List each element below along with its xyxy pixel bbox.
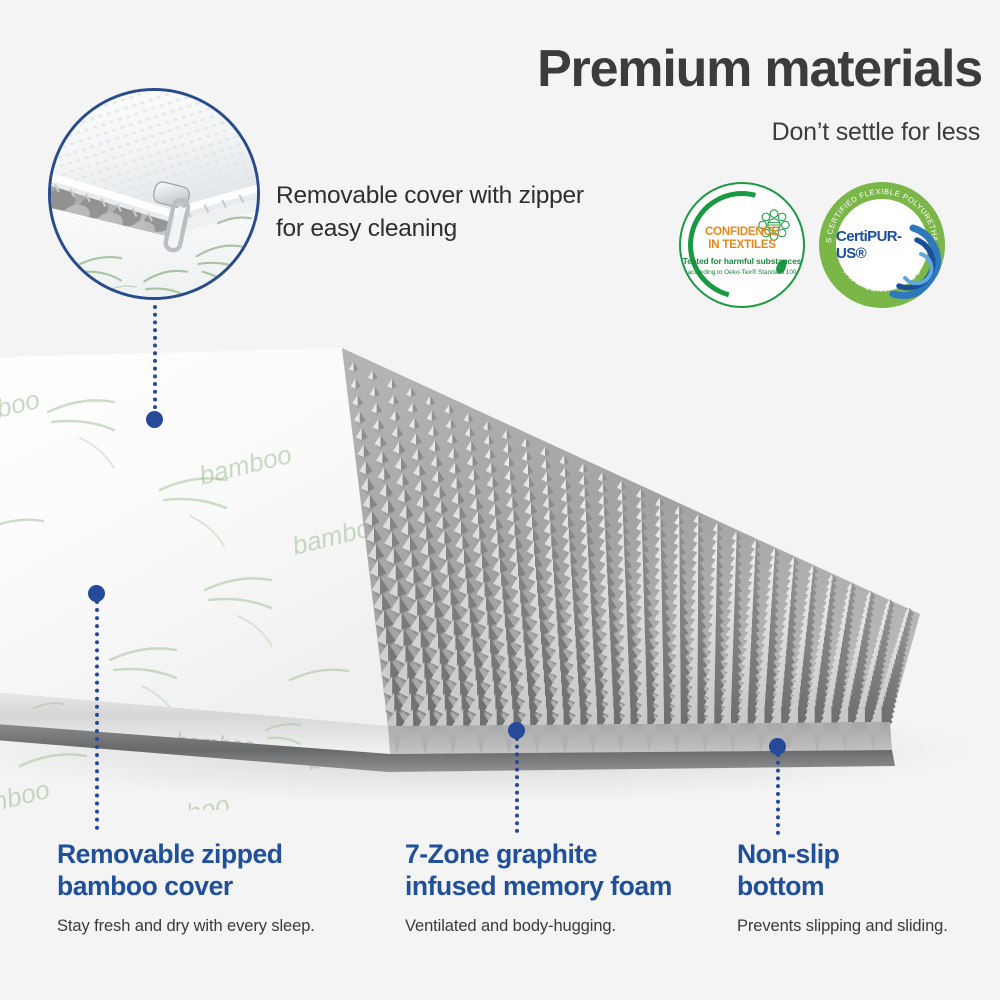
callout-line-1: Removable cover with zipper xyxy=(276,180,606,213)
page-subtitle: Don’t settle for less xyxy=(772,118,980,147)
mattress-topper-illustration: bamboo bamboo bamboo bamboo bamboo bambo… xyxy=(0,330,1000,810)
connector-line-cover-top xyxy=(153,305,157,417)
connector-line-memory-foam xyxy=(515,737,519,833)
zipper-photo xyxy=(51,91,257,297)
feature-caption: Ventilated and body-hugging. xyxy=(405,917,735,936)
certipur-label: CertiPUR-US® xyxy=(836,228,928,262)
marker-dot-non-slip xyxy=(769,738,786,755)
feature-caption: Stay fresh and dry with every sleep. xyxy=(57,917,387,936)
feature-caption: Prevents slipping and sliding. xyxy=(737,917,997,936)
svg-text:bamboo: bamboo xyxy=(0,774,53,810)
marker-dot-bamboo-cover xyxy=(88,585,105,602)
oeko-title: CONFIDENCE IN TEXTILES xyxy=(705,226,779,252)
page-title: Premium materials xyxy=(537,42,982,97)
feature-title: Non-slip bottom xyxy=(737,838,997,902)
feature-non-slip-bottom: Non-slip bottom Prevents slipping and sl… xyxy=(737,838,997,936)
feature-7-zone-graphite-infused-memory-foam: 7-Zone graphite infused memory foam Vent… xyxy=(405,838,735,936)
feature-list: Removable zipped bamboo cover Stay fresh… xyxy=(0,838,1000,978)
callout-removable-cover: Removable cover with zipper for easy cle… xyxy=(276,180,606,245)
feature-title: Removable zipped bamboo cover xyxy=(57,838,387,902)
feature-title: 7-Zone graphite infused memory foam xyxy=(405,838,735,902)
callout-line-2: for easy cleaning xyxy=(276,213,606,246)
marker-dot-cover-top xyxy=(146,411,163,428)
product-image-mattress-topper: bamboo bamboo bamboo bamboo bamboo bambo… xyxy=(0,330,1000,810)
zipper-detail-inset xyxy=(48,88,260,300)
oeko-subtitle: Tested for harmful substances xyxy=(683,256,801,266)
connector-line-bamboo-cover xyxy=(95,600,99,830)
connector-line-non-slip xyxy=(776,753,780,835)
marker-dot-memory-foam xyxy=(508,722,525,739)
oeko-tex-badge: CONFIDENCE IN TEXTILES Tested for harmfu… xyxy=(679,182,805,308)
certipur-us-badge: CONTAINS CERTIFIED FLEXIBLE POLYURETHANE… xyxy=(819,182,945,308)
feature-removable-zipped-bamboo-cover: Removable zipped bamboo cover Stay fresh… xyxy=(57,838,387,936)
certification-badges: CONFIDENCE IN TEXTILES Tested for harmfu… xyxy=(679,182,945,308)
oeko-standard: according to Oeko-Tex® Standard 100 xyxy=(688,269,797,276)
